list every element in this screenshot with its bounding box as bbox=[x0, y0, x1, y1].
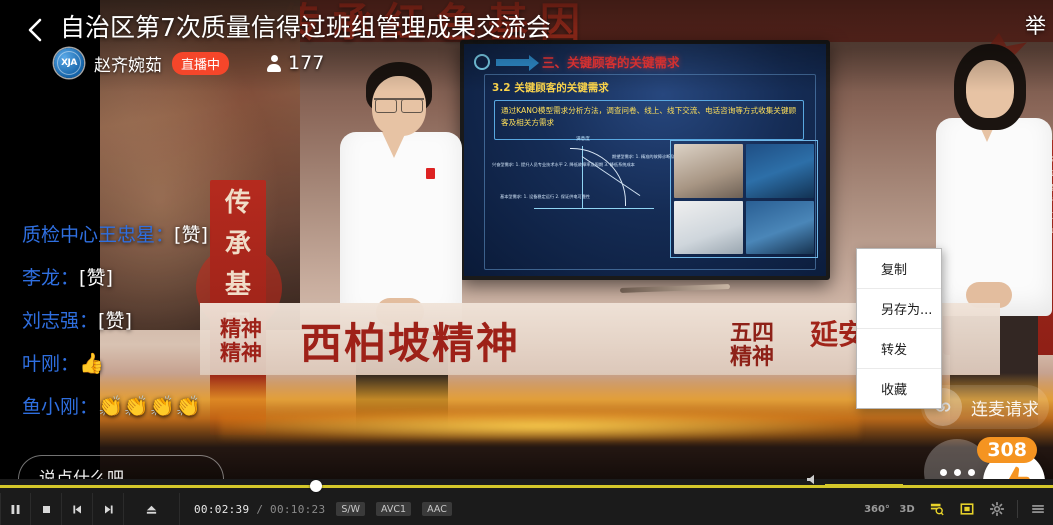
chat-separator: ： bbox=[79, 310, 98, 332]
context-menu-item-copy[interactable]: 复制 bbox=[857, 249, 941, 289]
context-menu-item-favorite[interactable]: 收藏 bbox=[857, 369, 941, 408]
chat-text: [赞] bbox=[79, 267, 113, 289]
kano-x-axis bbox=[534, 208, 654, 209]
slide-photo bbox=[746, 201, 815, 255]
right-control-group: 360° 3D bbox=[862, 493, 1053, 525]
volume-slider[interactable] bbox=[825, 484, 903, 487]
person-icon bbox=[267, 55, 281, 72]
stop-icon bbox=[40, 503, 53, 516]
chat-message: 鱼小刚：👏👏👏👏 bbox=[22, 392, 362, 419]
clap-emoji-icon: 👏👏👏👏 bbox=[98, 394, 202, 418]
glasses-icon bbox=[374, 98, 424, 110]
presenter-row: XJA 赵齐婉茹 直播中 177 bbox=[54, 48, 324, 78]
pause-button[interactable] bbox=[0, 493, 31, 525]
codec-badge-audio: AAC bbox=[422, 502, 452, 516]
viewer-count: 177 bbox=[288, 52, 324, 74]
chat-message: 刘志强：[赞] bbox=[22, 306, 362, 333]
slide-photo bbox=[746, 144, 815, 198]
gear-icon bbox=[990, 502, 1004, 516]
context-menu-item-save-as[interactable]: 另存为... bbox=[857, 289, 941, 329]
next-button[interactable] bbox=[93, 493, 124, 525]
thumbs-up-emoji-icon: 👍 bbox=[79, 351, 105, 375]
next-icon bbox=[102, 503, 115, 516]
codec-badge-sw: S/W bbox=[336, 502, 365, 516]
time-separator: / bbox=[256, 503, 263, 516]
chat-username: 刘志强 bbox=[22, 310, 79, 332]
eject-icon bbox=[145, 503, 158, 516]
chat-username: 质检中心王忠星 bbox=[22, 224, 155, 246]
chat-message: 质检中心王忠星：[赞] bbox=[22, 220, 362, 247]
slide-photo-grid bbox=[670, 140, 818, 258]
presenter-left-badge bbox=[426, 168, 435, 179]
status-badge: 直播中 bbox=[172, 52, 229, 75]
current-time: 00:02:39 bbox=[194, 503, 249, 516]
chat-text: [赞] bbox=[174, 224, 208, 246]
duration: 00:10:23 bbox=[270, 503, 325, 516]
more-dot bbox=[954, 469, 961, 476]
codec-badge-video: AVC1 bbox=[376, 502, 411, 516]
chat-overlay: 质检中心王忠星：[赞] 李龙：[赞] 刘志强：[赞] 叶刚：👍 鱼小刚：👏👏👏👏 bbox=[22, 220, 362, 435]
transport-controls bbox=[0, 493, 124, 525]
zoom-search-button[interactable] bbox=[922, 493, 952, 525]
chat-text: [赞] bbox=[98, 310, 132, 332]
aspect-ratio-button[interactable] bbox=[952, 493, 982, 525]
chat-separator: ： bbox=[60, 353, 79, 375]
header-overlay: 自治区第7次质量信得过班组管理成果交流会 XJA 赵齐婉茹 直播中 177 举 bbox=[0, 0, 1053, 92]
aspect-ratio-icon bbox=[960, 502, 974, 516]
avatar-label: XJA bbox=[61, 58, 77, 68]
stop-button[interactable] bbox=[31, 493, 62, 525]
control-divider bbox=[1017, 500, 1018, 518]
previous-icon bbox=[71, 503, 84, 516]
more-dot bbox=[968, 469, 975, 476]
seek-handle[interactable] bbox=[310, 480, 322, 492]
kano-note-left: 兴奋型需求: 1. 提升人员专业技术水平 2. 降低故障率及周期 3. 降低系统… bbox=[492, 162, 635, 169]
page-title: 自治区第7次质量信得过班组管理成果交流会 bbox=[60, 8, 551, 44]
pause-icon bbox=[9, 503, 22, 516]
slide-photo bbox=[674, 201, 743, 255]
chat-username: 李龙 bbox=[22, 267, 60, 289]
chat-separator: ： bbox=[60, 267, 79, 289]
playlist-menu-button[interactable] bbox=[1023, 493, 1053, 525]
back-button[interactable] bbox=[18, 13, 52, 47]
slogan-mid-text: 五四精神 bbox=[730, 321, 774, 369]
settings-button[interactable] bbox=[982, 493, 1012, 525]
player-control-bar: 00:02:39 / 00:10:23 S/W AVC1 AAC 360° 3D bbox=[0, 493, 1053, 525]
kano-axis-label: 满意度 bbox=[576, 136, 590, 142]
live-player-window: 传承红色基因 传 承 基 因 党的十八大以来，以习近平同志为核 心的党中央高度重… bbox=[0, 0, 1053, 525]
presenter-name: 赵齐婉茹 bbox=[94, 51, 162, 76]
chat-message: 李龙：[赞] bbox=[22, 263, 362, 290]
kano-note-bottom: 基本型需求: 1. 设备稳定运行 2. 保证供电可靠性 bbox=[500, 194, 590, 201]
context-menu: 复制 另存为... 转发 收藏 bbox=[856, 248, 942, 409]
chat-separator: ： bbox=[79, 396, 98, 418]
view-360-button[interactable]: 360° bbox=[862, 493, 892, 525]
previous-button[interactable] bbox=[62, 493, 93, 525]
chat-username: 叶刚 bbox=[22, 353, 60, 375]
more-dot bbox=[940, 469, 947, 476]
screen-stand bbox=[620, 284, 730, 293]
time-display: 00:02:39 / 00:10:23 S/W AVC1 AAC bbox=[180, 502, 452, 516]
zoom-search-icon bbox=[930, 502, 944, 516]
slide-callout-text: 通过KANO模型需求分析方法，调查问卷、线上、线下交流、电话咨询等方式收集关键顾… bbox=[501, 105, 797, 129]
chevron-left-icon bbox=[25, 17, 45, 43]
viewer-count-group: 177 bbox=[267, 52, 324, 74]
chat-separator: ： bbox=[155, 224, 174, 246]
hamburger-menu-icon bbox=[1031, 502, 1045, 516]
mic-request-label: 连麦请求 bbox=[971, 395, 1039, 420]
volume-icon[interactable] bbox=[806, 473, 821, 491]
speaker-glyph bbox=[806, 473, 821, 486]
chat-message: 叶刚：👍 bbox=[22, 349, 362, 376]
avatar[interactable]: XJA bbox=[54, 48, 84, 78]
volume-fill bbox=[825, 484, 903, 487]
context-menu-item-forward[interactable]: 转发 bbox=[857, 329, 941, 369]
vertical-banner-char-1: 传 bbox=[210, 186, 266, 221]
like-count-badge: 308 bbox=[977, 437, 1037, 463]
slide-callout-box: 通过KANO模型需求分析方法，调查问卷、线上、线下交流、电话咨询等方式收集关键顾… bbox=[494, 100, 804, 140]
slide-photo bbox=[674, 144, 743, 198]
view-3d-button[interactable]: 3D bbox=[892, 493, 922, 525]
eject-button[interactable] bbox=[124, 493, 180, 525]
report-button[interactable]: 举 bbox=[1025, 10, 1049, 40]
chat-username: 鱼小刚 bbox=[22, 396, 79, 418]
